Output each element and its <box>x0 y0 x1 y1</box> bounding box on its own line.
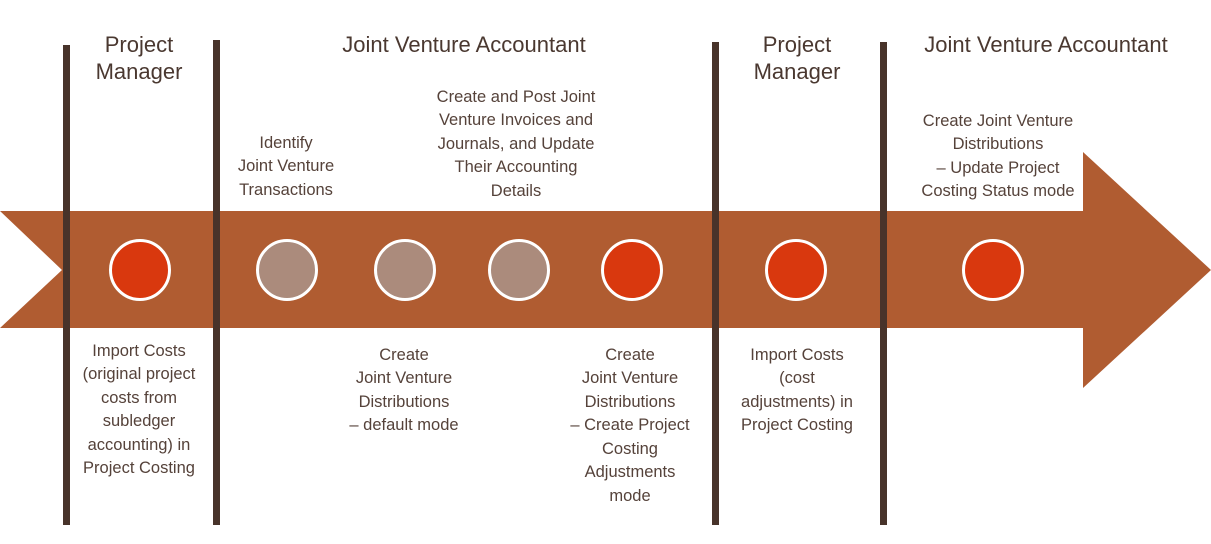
task-label-create-jv-distributions-update-pc-status: Create Joint Venture Distributions – Upd… <box>893 110 1103 204</box>
task-label-create-post-jv-invoices: Create and Post Joint Venture Invoices a… <box>408 86 624 203</box>
milestone-circle-3[interactable] <box>374 239 436 301</box>
milestone-circle-7[interactable] <box>962 239 1024 301</box>
lane-separator-2 <box>213 40 220 525</box>
role-header-joint-venture-accountant-1: Joint Venture Accountant <box>218 32 710 59</box>
milestone-circle-2[interactable] <box>256 239 318 301</box>
milestone-circle-1[interactable] <box>109 239 171 301</box>
task-label-create-jv-distributions-adjustments: Create Joint Venture Distributions – Cre… <box>551 344 709 508</box>
lane-separator-4 <box>880 42 887 525</box>
role-header-joint-venture-accountant-2: Joint Venture Accountant <box>886 32 1206 59</box>
process-flow-diagram: Project Manager Joint Venture Accountant… <box>0 0 1211 544</box>
task-label-identify-jv-transactions: Identify Joint Venture Transactions <box>218 132 354 202</box>
lane-separator-3 <box>712 42 719 525</box>
task-label-import-costs-adjustments: Import Costs (cost adjustments) in Proje… <box>718 344 876 438</box>
role-header-project-manager-1: Project Manager <box>66 32 212 86</box>
task-label-import-costs-original: Import Costs (original project costs fro… <box>70 340 208 481</box>
milestone-circle-5[interactable] <box>601 239 663 301</box>
milestone-circle-6[interactable] <box>765 239 827 301</box>
lane-separator-1 <box>63 45 70 525</box>
role-header-project-manager-2: Project Manager <box>716 32 878 86</box>
milestone-circle-4[interactable] <box>488 239 550 301</box>
task-label-create-jv-distributions-default: Create Joint Venture Distributions – def… <box>329 344 479 438</box>
